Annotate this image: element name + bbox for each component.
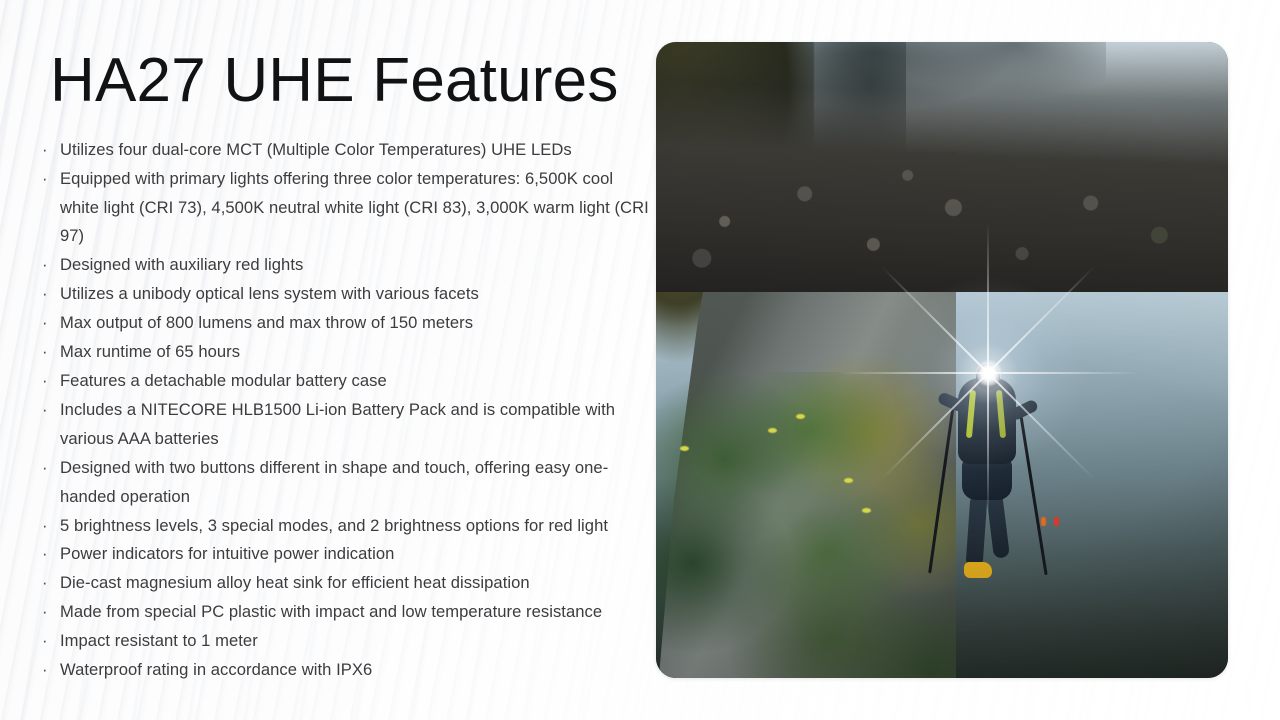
list-item-label: Features a detachable modular battery ca… <box>60 371 387 390</box>
list-item-label: Includes a NITECORE HLB1500 Li-ion Batte… <box>60 400 615 448</box>
page-title: HA27 UHE Features <box>50 48 650 114</box>
list-item-label: Waterproof rating in accordance with IPX… <box>60 660 372 679</box>
bullet-icon: · <box>42 627 48 656</box>
list-item: · 5 brightness levels, 3 special modes, … <box>50 512 650 541</box>
slide-canvas: HA27 UHE Features · Utilizes four dual-c… <box>0 0 1280 720</box>
bullet-icon: · <box>42 396 48 425</box>
bullet-icon: · <box>42 165 48 194</box>
list-item: · Power indicators for intuitive power i… <box>50 540 650 569</box>
list-item: · Die-cast magnesium alloy heat sink for… <box>50 569 650 598</box>
hero-photo <box>656 42 1228 678</box>
list-item: · Max runtime of 65 hours <box>50 338 650 367</box>
list-item: · Features a detachable modular battery … <box>50 367 650 396</box>
list-item-label: Equipped with primary lights offering th… <box>60 169 649 246</box>
list-item: · Designed with auxiliary red lights <box>50 251 650 280</box>
list-item-label: Made from special PC plastic with impact… <box>60 602 602 621</box>
list-item-label: Utilizes a unibody optical lens system w… <box>60 284 479 303</box>
bullet-icon: · <box>42 598 48 627</box>
bullet-icon: · <box>42 338 48 367</box>
bullet-icon: · <box>42 569 48 598</box>
list-item: · Utilizes a unibody optical lens system… <box>50 280 650 309</box>
list-item-label: Designed with two buttons different in s… <box>60 458 608 506</box>
list-item: · Max output of 800 lumens and max throw… <box>50 309 650 338</box>
list-item-label: Power indicators for intuitive power ind… <box>60 544 394 563</box>
list-item: · Includes a NITECORE HLB1500 Li-ion Bat… <box>50 396 650 454</box>
list-item: · Waterproof rating in accordance with I… <box>50 656 650 685</box>
bullet-icon: · <box>42 454 48 483</box>
list-item: · Equipped with primary lights offering … <box>50 165 650 252</box>
list-item-label: Die-cast magnesium alloy heat sink for e… <box>60 573 530 592</box>
bullet-icon: · <box>42 251 48 280</box>
list-item: · Utilizes four dual-core MCT (Multiple … <box>50 136 650 165</box>
list-item: · Designed with two buttons different in… <box>50 454 650 512</box>
bullet-icon: · <box>42 512 48 541</box>
list-item-label: Max runtime of 65 hours <box>60 342 240 361</box>
feature-list: · Utilizes four dual-core MCT (Multiple … <box>50 136 650 685</box>
list-item-label: Impact resistant to 1 meter <box>60 631 258 650</box>
bullet-icon: · <box>42 656 48 685</box>
list-item: · Impact resistant to 1 meter <box>50 627 650 656</box>
bullet-icon: · <box>42 280 48 309</box>
list-item-label: 5 brightness levels, 3 special modes, an… <box>60 516 608 535</box>
bullet-icon: · <box>42 540 48 569</box>
text-column: HA27 UHE Features · Utilizes four dual-c… <box>50 48 650 685</box>
list-item-label: Max output of 800 lumens and max throw o… <box>60 313 473 332</box>
list-item-label: Designed with auxiliary red lights <box>60 255 303 274</box>
bullet-icon: · <box>42 309 48 338</box>
photo-vignette <box>656 42 1228 678</box>
bullet-icon: · <box>42 367 48 396</box>
list-item-label: Utilizes four dual-core MCT (Multiple Co… <box>60 140 572 159</box>
list-item: · Made from special PC plastic with impa… <box>50 598 650 627</box>
bullet-icon: · <box>42 136 48 165</box>
